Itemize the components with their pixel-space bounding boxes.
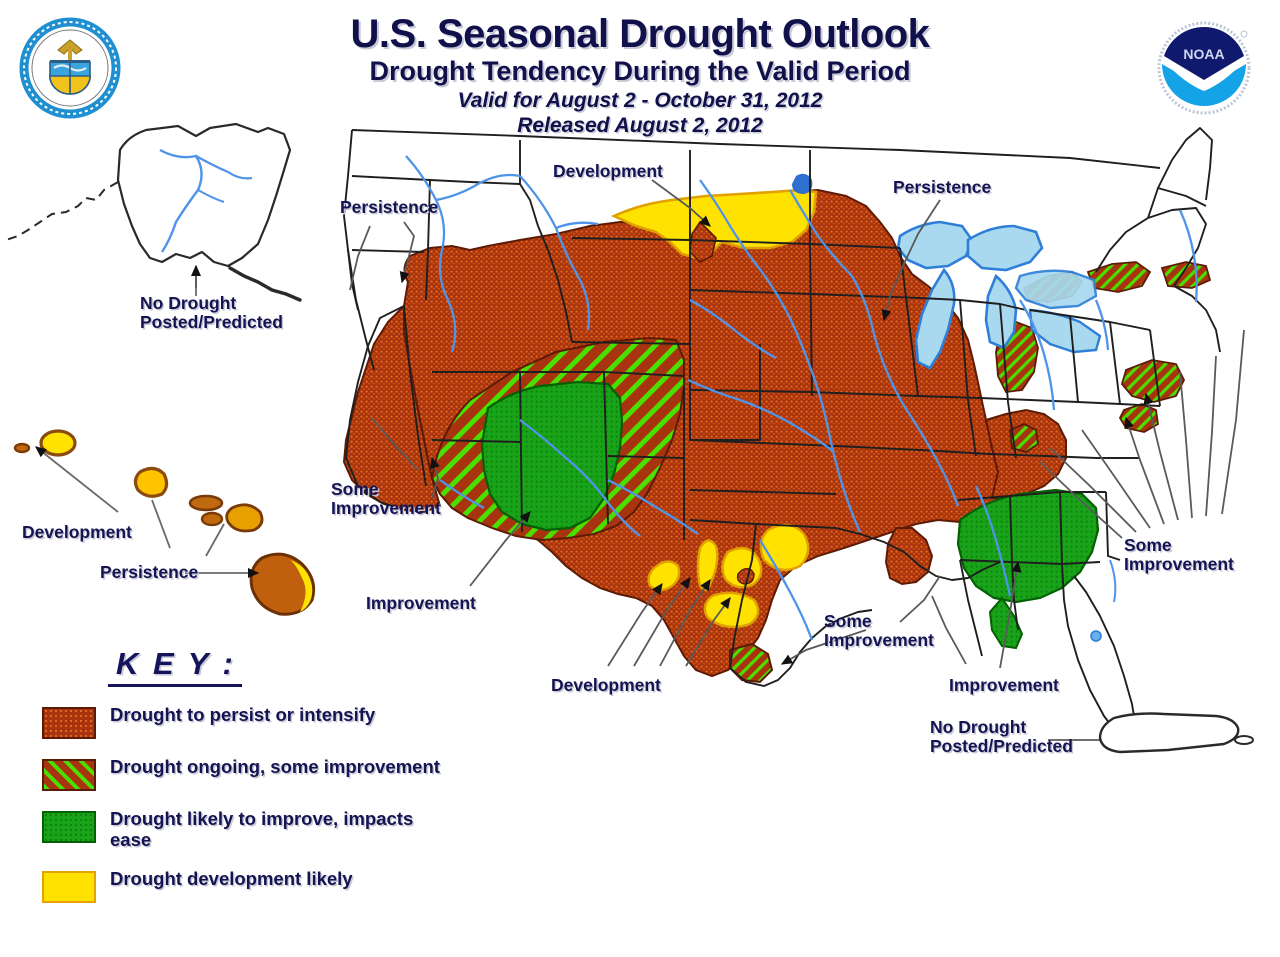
legend-swatch-drought-improve bbox=[42, 811, 96, 843]
annotation-northeast-some-improvement: Some Improvement bbox=[1124, 536, 1234, 574]
annotation-southwest-improvement: Improvement bbox=[366, 594, 476, 613]
annotation-alaska-no-drought: No Drought Posted/Predicted bbox=[140, 294, 283, 332]
map-region-southeast-improvement bbox=[958, 490, 1098, 648]
legend-swatch-drought-development bbox=[42, 871, 96, 903]
annotation-puerto-rico-no-drought: No Drought Posted/Predicted bbox=[930, 718, 1073, 756]
annotation-southeast-improvement: Improvement bbox=[949, 676, 1059, 695]
legend-title: K E Y : bbox=[108, 646, 242, 687]
annotation-north-development: Development bbox=[553, 162, 663, 181]
legend: K E Y : Drought to persist or intensify … bbox=[42, 646, 442, 903]
map-region-puerto-rico bbox=[1100, 714, 1253, 753]
annotation-texas-development: Development bbox=[551, 676, 661, 695]
annotation-northwest-persistence: Persistence bbox=[340, 198, 438, 217]
legend-swatch-drought-ongoing bbox=[42, 759, 96, 791]
legend-item-ongoing-some-improvement: Drought ongoing, some improvement bbox=[42, 756, 442, 791]
legend-swatch-drought-persist bbox=[42, 707, 96, 739]
legend-label-drought-development: Drought development likely bbox=[110, 868, 353, 889]
legend-label-drought-persist: Drought to persist or intensify bbox=[110, 704, 375, 725]
annotation-southwest-some-improvement: Some Improvement bbox=[331, 480, 441, 518]
legend-item-development: Drought development likely bbox=[42, 868, 442, 903]
legend-item-improve: Drought likely to improve, impacts ease bbox=[42, 808, 442, 851]
annotation-great-lakes-persistence: Persistence bbox=[893, 178, 991, 197]
annotation-gulf-some-improvement: Some Improvement bbox=[824, 612, 934, 650]
map-region-south-texas-some-improvement bbox=[730, 644, 772, 682]
drought-outlook-map-page: U.S. Seasonal Drought Outlook Drought Te… bbox=[0, 0, 1280, 957]
legend-item-persist: Drought to persist or intensify bbox=[42, 704, 442, 739]
legend-label-drought-ongoing: Drought ongoing, some improvement bbox=[110, 756, 440, 777]
map-region-alaska bbox=[6, 124, 300, 300]
annotation-hawaii-persistence: Persistence bbox=[100, 563, 198, 582]
legend-label-drought-improve: Drought likely to improve, impacts ease bbox=[110, 808, 442, 851]
annotation-hawaii-development: Development bbox=[22, 523, 132, 542]
